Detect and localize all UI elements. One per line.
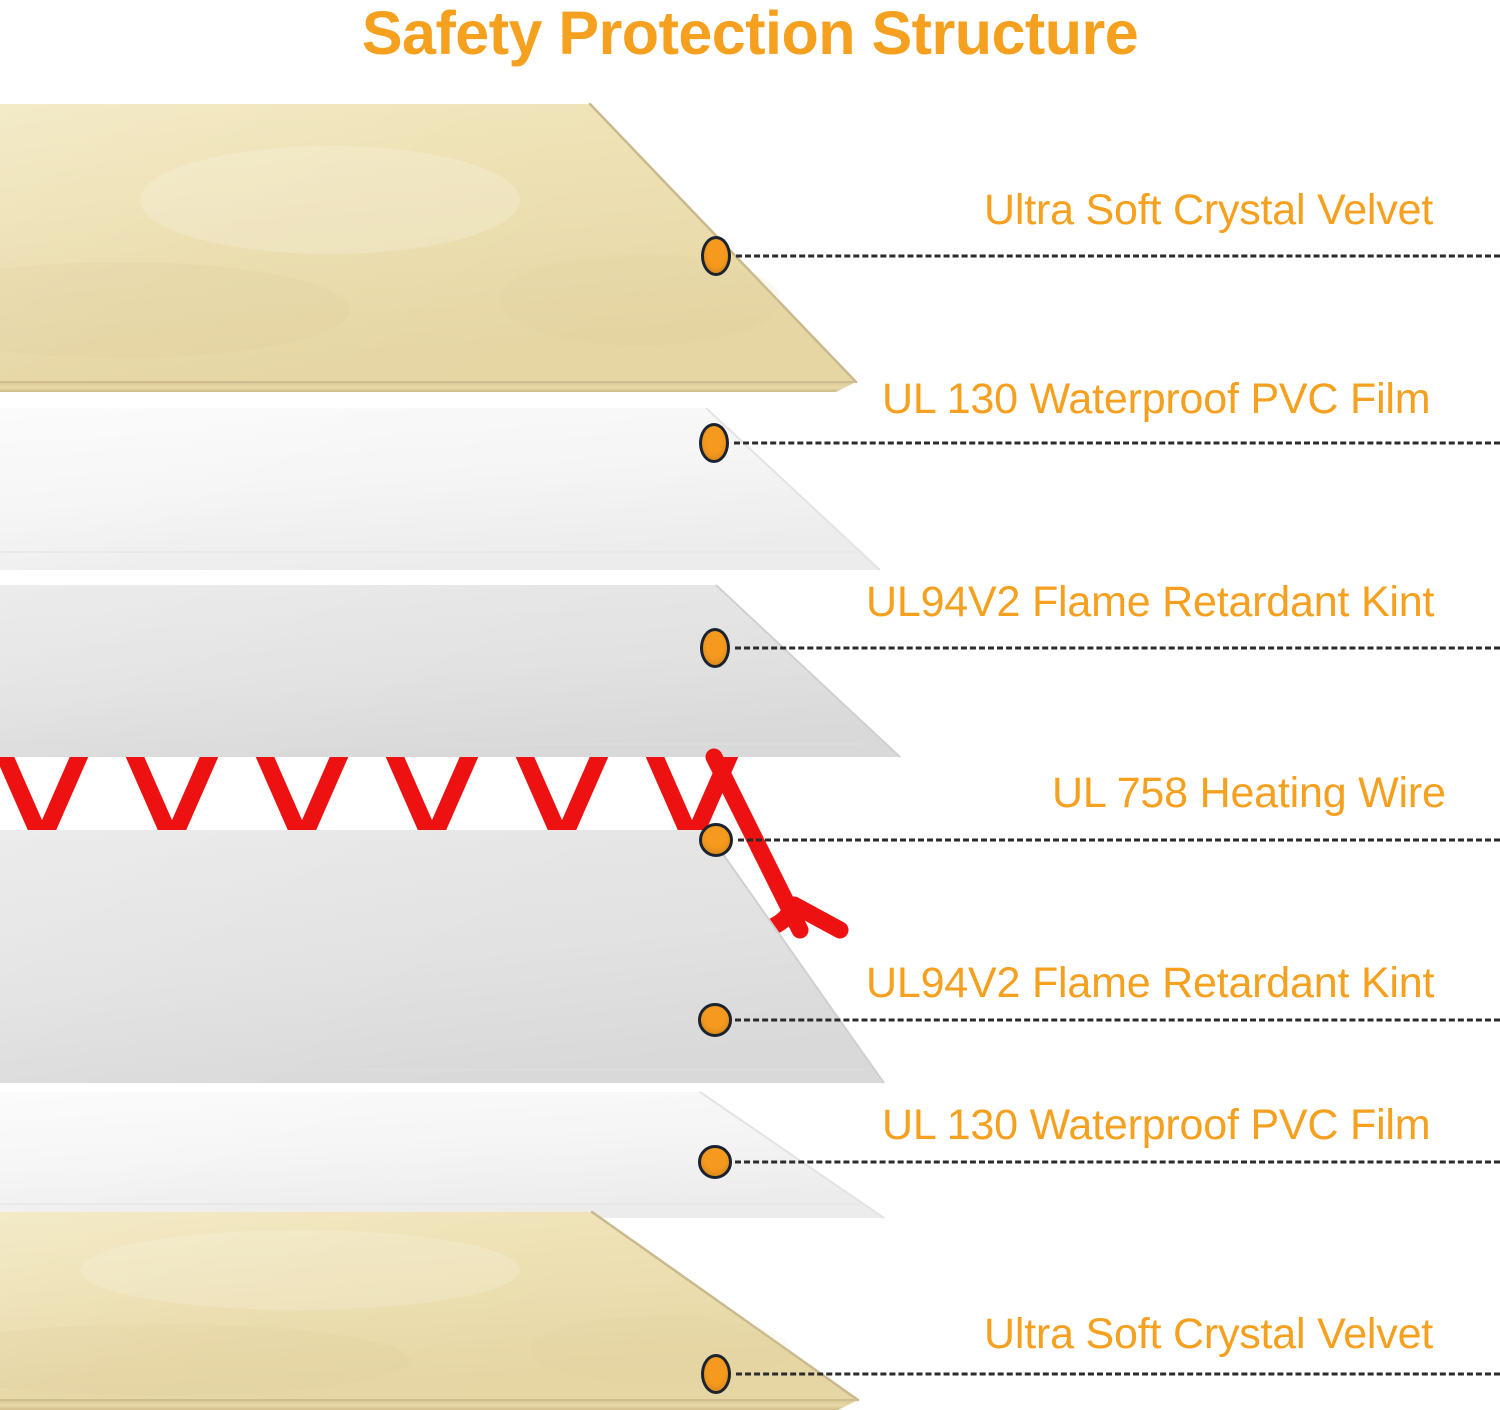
callout-leader-line	[734, 442, 1500, 445]
layer-knit-bottom	[0, 830, 884, 1083]
callout-marker-dot-icon[interactable]	[698, 1145, 732, 1179]
layer-pvc-top	[0, 408, 880, 570]
callout-leader-line	[735, 1161, 1500, 1164]
callout-marker-dot-icon[interactable]	[699, 823, 733, 857]
layer-knit-top	[0, 585, 900, 757]
callout-marker-dot-icon[interactable]	[698, 1003, 732, 1037]
callout-label-velvet-bottom: Ultra Soft Crystal Velvet	[984, 1313, 1433, 1356]
callout-marker-dot-icon[interactable]	[701, 236, 731, 276]
callout-label-velvet-top: Ultra Soft Crystal Velvet	[984, 189, 1433, 232]
callout-leader-line	[738, 839, 1500, 842]
callout-marker-dot-icon[interactable]	[699, 423, 729, 463]
layer-pvc-bottom	[0, 1092, 884, 1218]
callout-label-pvc-bottom: UL 130 Waterproof PVC Film	[882, 1104, 1430, 1147]
callout-label-heating-wire: UL 758 Heating Wire	[1052, 772, 1446, 815]
callout-label-pvc-top: UL 130 Waterproof PVC Film	[882, 378, 1430, 421]
infographic-canvas: Safety Protection Structure Ultra Soft C…	[0, 0, 1500, 1410]
callout-marker-dot-icon[interactable]	[700, 628, 730, 668]
callout-leader-line	[736, 255, 1500, 258]
callout-marker-dot-icon[interactable]	[701, 1354, 731, 1394]
callout-leader-line	[736, 1373, 1500, 1376]
page-title: Safety Protection Structure	[0, 0, 1500, 68]
callout-label-knit-bottom: UL94V2 Flame Retardant Kint	[866, 962, 1434, 1005]
callout-leader-line	[735, 647, 1500, 650]
callout-label-knit-top: UL94V2 Flame Retardant Kint	[866, 581, 1434, 624]
callout-leader-line	[735, 1019, 1500, 1022]
